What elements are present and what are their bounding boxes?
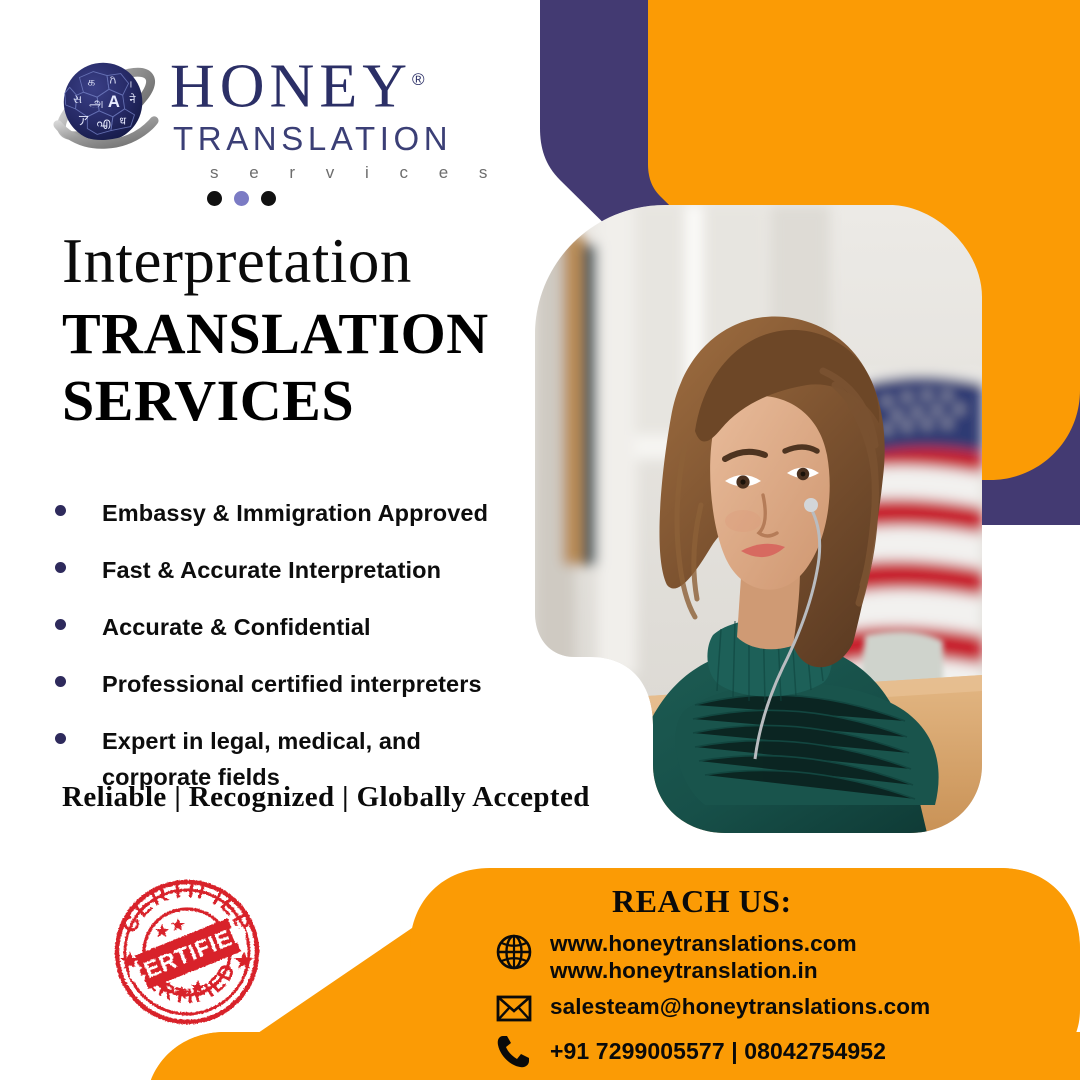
dot-1 (207, 191, 222, 206)
website-line-1[interactable]: www.honeytranslations.com (550, 930, 857, 957)
bullet-dot-icon (55, 619, 66, 630)
poster-canvas: க ಗಿ । સ அ A ने ア എ ध HONEY® TRANSLATION… (0, 0, 1080, 1080)
bullet-dot-icon (55, 733, 66, 744)
svg-text:ア: ア (78, 115, 90, 128)
reach-us-heading: REACH US: (612, 882, 792, 920)
hero-photo-image (535, 205, 982, 833)
certified-stamp: CERTIFIED CERTIFIED CERTIFIED (106, 868, 268, 1026)
logo-tertiary-name: s e r v i c e s (210, 161, 500, 185)
feature-text: Accurate & Confidential (102, 609, 371, 645)
phone-numbers[interactable]: +91 7299005577 | 08042754952 (550, 1038, 886, 1065)
email-address[interactable]: salesteam@honeytranslations.com (550, 993, 930, 1020)
svg-text:સ: સ (73, 94, 82, 106)
headline-line-2: SERVICES (62, 367, 542, 434)
feature-text: Professional certified interpreters (102, 666, 482, 702)
phone-icon (494, 1031, 534, 1071)
svg-text:அ: அ (89, 95, 103, 110)
page-title: Interpretation TRANSLATION SERVICES (62, 228, 542, 434)
registered-mark: ® (412, 70, 425, 89)
bullet-dot-icon (55, 562, 66, 573)
list-item: Fast & Accurate Interpretation (55, 552, 555, 588)
list-item: Accurate & Confidential (55, 609, 555, 645)
svg-text:ಗಿ: ಗಿ (110, 73, 117, 86)
svg-text:ने: ने (130, 93, 137, 106)
dot-2 (234, 191, 249, 206)
svg-text:க: க (88, 75, 96, 88)
list-item: Embassy & Immigration Approved (55, 495, 555, 531)
brand-logo[interactable]: க ಗಿ । સ அ A ने ア എ ध HONEY® TRANSLATION… (52, 44, 472, 184)
globe-icon (494, 932, 534, 972)
list-item: Professional certified interpreters (55, 666, 555, 702)
decorative-dots (207, 191, 276, 206)
tagline: Reliable | Recognized | Globally Accepte… (62, 778, 590, 816)
website-line-2[interactable]: www.honeytranslation.in (550, 957, 857, 984)
svg-text:।: । (129, 79, 133, 90)
bullet-dot-icon (55, 505, 66, 516)
feature-text: Fast & Accurate Interpretation (102, 552, 441, 588)
envelope-icon (494, 988, 534, 1028)
headline-line-1: TRANSLATION (62, 300, 542, 367)
headline-main: TRANSLATION SERVICES (62, 300, 542, 434)
contact-row-email[interactable]: salesteam@honeytranslations.com (494, 988, 930, 1028)
feature-text: Embassy & Immigration Approved (102, 495, 488, 531)
feature-list: Embassy & Immigration Approved Fast & Ac… (55, 495, 555, 816)
headline-script-line: Interpretation (62, 228, 542, 294)
contact-row-phone[interactable]: +91 7299005577 | 08042754952 (494, 1031, 886, 1071)
contact-row-website[interactable]: www.honeytranslations.com www.honeytrans… (494, 930, 857, 984)
bullet-dot-icon (55, 676, 66, 687)
globe-languages-icon: க ಗಿ । સ அ A ने ア എ ध (52, 48, 160, 160)
svg-text:എ: എ (96, 117, 111, 131)
logo-honey-text: HONEY (170, 53, 412, 121)
svg-text:A: A (108, 92, 120, 111)
hero-photo (535, 205, 982, 833)
logo-secondary-name: TRANSLATION (173, 119, 500, 159)
dot-3 (261, 191, 276, 206)
svg-text:ध: ध (119, 116, 126, 128)
logo-primary-name: HONEY® (170, 50, 500, 117)
